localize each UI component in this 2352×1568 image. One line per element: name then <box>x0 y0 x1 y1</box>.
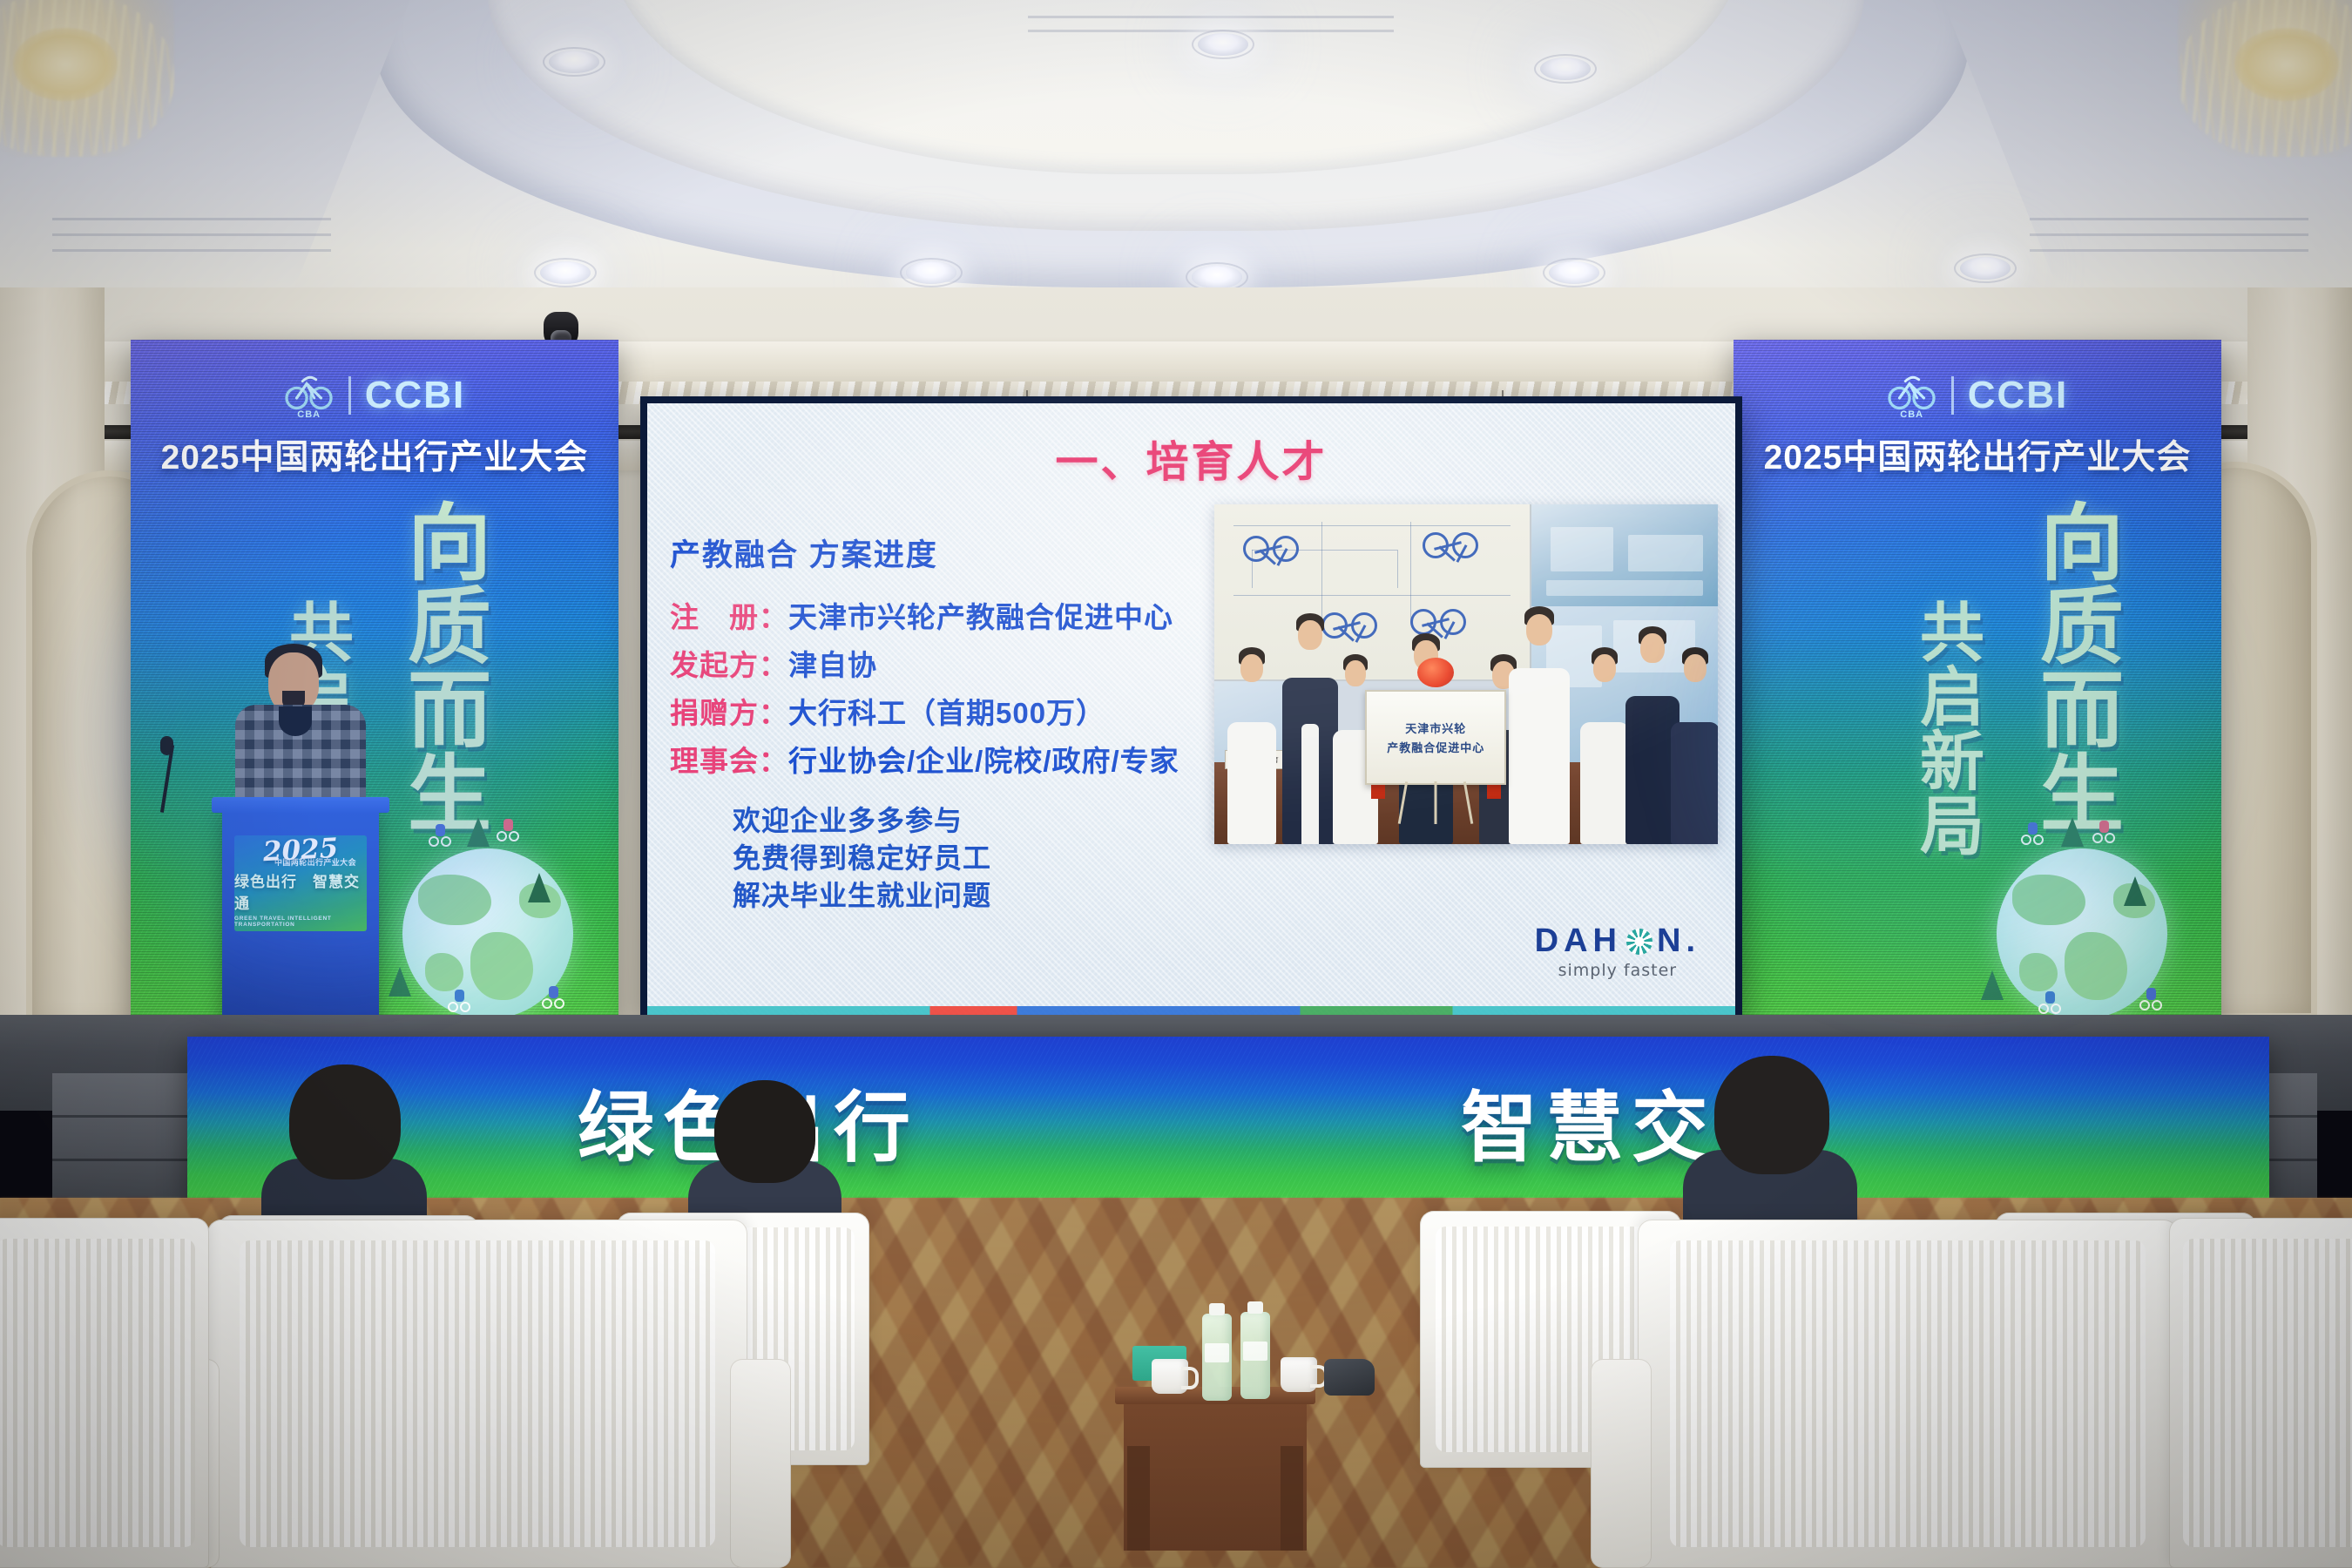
red-ribbon-bow-icon <box>1417 658 1454 687</box>
photo-lab-inset-upper <box>1531 504 1718 606</box>
plaque-line-2: 产教融合促进中心 <box>1387 739 1484 755</box>
photo-person <box>1506 606 1571 844</box>
slide-body: 产教融合 方案进度 注 册： 天津市兴轮产教融合促进中心 发起方： 津自协 捐赠… <box>670 531 1184 915</box>
podium-branding-panel: 2025 中国两轮出行产业大会 绿色出行 智慧交通 GREEN TRAVEL I… <box>234 835 367 931</box>
cyclist-icon <box>2038 991 2061 1014</box>
cba-bicycle-logo-icon: CBA <box>284 373 335 418</box>
slide-photo: 人才培育 产 <box>1214 504 1718 844</box>
slide-row-value: 行业协会/企业/院校/政府/专家 <box>788 738 1179 780</box>
ceiling-downlight-ring <box>543 47 605 77</box>
front-chair-far-left <box>0 1218 209 1568</box>
slide-row-label: 发起方： <box>670 642 788 684</box>
dahon-tagline: simply faster <box>1535 961 1700 980</box>
banner-right-globe-illustration <box>1951 793 2213 1028</box>
tree-icon <box>389 967 411 997</box>
dahon-wheel-icon <box>1626 929 1652 955</box>
banner-right-logo-row: CBA CCBI <box>1734 373 2221 418</box>
cba-bicycle-logo-icon: CBA <box>1887 373 1937 418</box>
banner-left-logo-row: CBA CCBI <box>131 373 618 418</box>
cyclist-icon <box>2139 988 2162 1010</box>
plaque-line-1: 天津市兴轮 <box>1405 720 1466 736</box>
blueprint-bicycle-icon <box>1410 605 1466 635</box>
speaker-collar <box>279 706 312 736</box>
slide-row-value: 大行科工（首期500万） <box>788 690 1105 732</box>
podium-top <box>212 797 389 813</box>
front-chair-left <box>207 1220 747 1568</box>
chandelier-core <box>2234 28 2339 101</box>
chandelier-left <box>0 0 174 157</box>
podium-slogan-en: GREEN TRAVEL INTELLIGENT TRANSPORTATION <box>234 916 367 928</box>
slide-row-label: 注 册： <box>670 594 788 636</box>
ceiling-slat <box>52 249 331 252</box>
slide-row: 捐赠方： 大行科工（首期500万） <box>670 690 1184 732</box>
ceiling-downlight-ring <box>1543 258 1605 287</box>
plaque-easel <box>1435 781 1437 824</box>
stage-steps-left <box>52 1073 209 1204</box>
audience-head <box>714 1080 815 1183</box>
cyclist-icon <box>2021 822 2044 845</box>
stage-skirt-led: 绿色出行 智慧交通 <box>187 1037 2269 1202</box>
ceiling-slat <box>2030 249 2308 252</box>
chair-armrest <box>730 1359 791 1568</box>
ceiling-slat <box>2030 233 2308 236</box>
ceiling-slat <box>52 218 331 220</box>
water-bottle <box>1202 1314 1232 1401</box>
conference-hall-scene: CBA CCBI 2025中国两轮出行产业大会 向 质 而 生 共 启 新 局 <box>0 0 2352 1568</box>
dark-bag <box>1324 1359 1375 1396</box>
ceiling-downlight-ring <box>534 258 597 287</box>
audience-head <box>289 1064 401 1179</box>
ccbi-wordmark: CCBI <box>365 374 466 417</box>
cyclist-icon <box>429 824 451 847</box>
chandelier-right <box>2178 0 2352 157</box>
podium-slogan: 绿色出行 智慧交通 <box>234 869 367 913</box>
photo-person <box>1667 647 1718 844</box>
tree-icon <box>1981 970 2004 1000</box>
ceiling-slat <box>1028 16 1394 18</box>
slide-note-line: 解决毕业生就业问题 <box>733 877 1184 915</box>
slide-row: 发起方： 津自协 <box>670 642 1184 684</box>
dahon-logo: DAH N. simply faster <box>1535 923 1700 980</box>
tea-cup <box>1281 1357 1317 1392</box>
banner-right-calligraphy-primary: 向 质 而 生 <box>2040 502 2124 836</box>
photo-person <box>1225 647 1281 844</box>
blueprint-bicycle-icon <box>1243 532 1299 562</box>
cyclist-icon <box>542 986 564 1009</box>
podium-year: 2025 <box>262 836 339 864</box>
slide-note-line: 免费得到稳定好员工 <box>733 840 1184 877</box>
tree-icon <box>467 817 490 847</box>
podium: 2025 中国两轮出行产业大会 绿色出行 智慧交通 GREEN TRAVEL I… <box>222 806 379 1037</box>
tree-icon <box>2124 876 2146 906</box>
cba-wordmark: CBA <box>284 409 335 420</box>
ceiling-slat <box>2030 218 2308 220</box>
dahon-brand-part1: DAH <box>1535 923 1622 960</box>
audience-head <box>1714 1056 1829 1174</box>
banner-left-globe-illustration <box>357 793 618 1028</box>
tree-icon <box>528 873 551 902</box>
ceiling-downlight-ring <box>1534 54 1597 84</box>
chandelier-core <box>13 28 118 101</box>
slide-title: 一、培育人才 <box>647 428 1735 490</box>
banner-left-calligraphy-primary: 向 质 而 生 <box>408 502 491 836</box>
banner-right-title: 2025中国两轮出行产业大会 <box>1734 430 2221 479</box>
cba-wordmark: CBA <box>1887 409 1937 420</box>
ceiling-downlight-ring <box>1192 30 1254 59</box>
slide-notes: 欢迎企业多多参与 免费得到稳定好员工 解决毕业生就业问题 <box>670 802 1184 915</box>
slide-row-value: 津自协 <box>788 642 877 684</box>
ceiling-downlight-ring <box>900 258 963 287</box>
slide-heading: 产教融合 方案进度 <box>670 531 1184 575</box>
slide-note-line: 欢迎企业多多参与 <box>733 802 1184 840</box>
dahon-brand-part2: N. <box>1657 923 1700 960</box>
slide-row-label: 捐赠方： <box>670 690 788 732</box>
photo-plaque-group: 天津市兴轮 产教融合促进中心 <box>1365 647 1506 824</box>
dahon-wordmark: DAH N. <box>1535 923 1700 960</box>
ccbi-wordmark: CCBI <box>1968 374 2069 417</box>
slide-row-label: 理事会： <box>670 738 788 780</box>
logo-divider <box>348 376 351 415</box>
logo-divider <box>1951 376 1954 415</box>
presentation-screen-frame: 一、培育人才 产教融合 方案进度 注 册： 天津市兴轮产教融合促进中心 发起方：… <box>640 396 1742 1024</box>
cyclist-icon <box>448 990 470 1012</box>
slide-row: 注 册： 天津市兴轮产教融合促进中心 <box>670 594 1184 636</box>
blueprint-bicycle-icon <box>1423 529 1478 558</box>
cyclist-icon <box>2092 821 2115 843</box>
photo-plaque: 天津市兴轮 产教融合促进中心 <box>1365 690 1506 786</box>
ceiling-downlight-ring <box>1954 253 2017 283</box>
slide-row-value: 天津市兴轮产教融合促进中心 <box>788 594 1173 636</box>
banner-left-title: 2025中国两轮出行产业大会 <box>131 430 618 479</box>
slide-row: 理事会： 行业协会/企业/院校/政府/专家 <box>670 738 1184 780</box>
side-table <box>1124 1394 1307 1551</box>
cyclist-icon <box>497 819 519 841</box>
led-pixel-grain <box>187 1037 2269 1202</box>
tea-cup <box>1152 1359 1188 1394</box>
ceiling-slat <box>52 233 331 236</box>
front-chair-right <box>1638 1220 2178 1568</box>
chair-armrest <box>1591 1359 1652 1568</box>
presentation-screen: 一、培育人才 产教融合 方案进度 注 册： 天津市兴轮产教融合促进中心 发起方：… <box>647 403 1735 1017</box>
led-banner-right: CBA CCBI 2025中国两轮出行产业大会 向 质 而 生 共 启 新 局 <box>1734 340 2221 1028</box>
tree-icon <box>2061 817 2084 847</box>
water-bottle <box>1240 1312 1270 1399</box>
front-chair-far-right <box>2169 1218 2352 1568</box>
